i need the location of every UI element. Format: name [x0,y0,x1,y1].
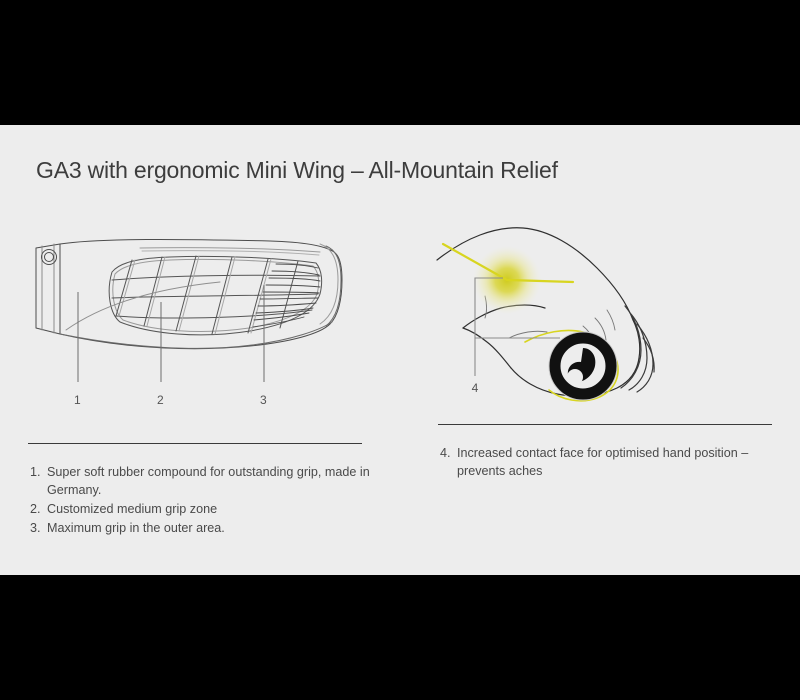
grip-illustration [20,230,360,400]
letterbox-bottom [0,575,800,700]
feature-text: Maximum grip in the outer area. [47,519,380,537]
feature-item: 3. Maximum grip in the outer area. [30,519,380,537]
feature-number: 3. [30,519,47,537]
hand-callout-number-4: 4 [472,381,479,395]
features-list-right: 4. Increased contact face for optimised … [440,444,780,481]
feature-number: 1. [30,463,47,481]
feature-text: Super soft rubber compound for outstandi… [47,463,380,499]
feature-item: 1. Super soft rubber compound for outsta… [30,463,380,499]
hand-illustration: 4 [425,220,695,410]
slide-content-panel: GA3 with ergonomic Mini Wing – All-Mount… [0,125,800,575]
divider-left [28,443,362,444]
feature-number: 4. [440,444,457,462]
grip-callout-number-2: 2 [157,393,164,407]
features-list-left: 1. Super soft rubber compound for outsta… [30,463,380,538]
feature-number: 2. [30,500,47,518]
ergon-logo-icon [550,333,616,399]
feature-item: 4. Increased contact face for optimised … [440,444,780,480]
divider-right [438,424,772,425]
grip-callout-number-3: 3 [260,393,267,407]
page-title: GA3 with ergonomic Mini Wing – All-Mount… [36,157,558,184]
feature-text: Increased contact face for optimised han… [457,444,780,480]
feature-text: Customized medium grip zone [47,500,380,518]
letterbox-top [0,0,800,125]
slide-stage: GA3 with ergonomic Mini Wing – All-Mount… [0,0,800,700]
grip-callout-number-1: 1 [74,393,81,407]
feature-item: 2. Customized medium grip zone [30,500,380,518]
